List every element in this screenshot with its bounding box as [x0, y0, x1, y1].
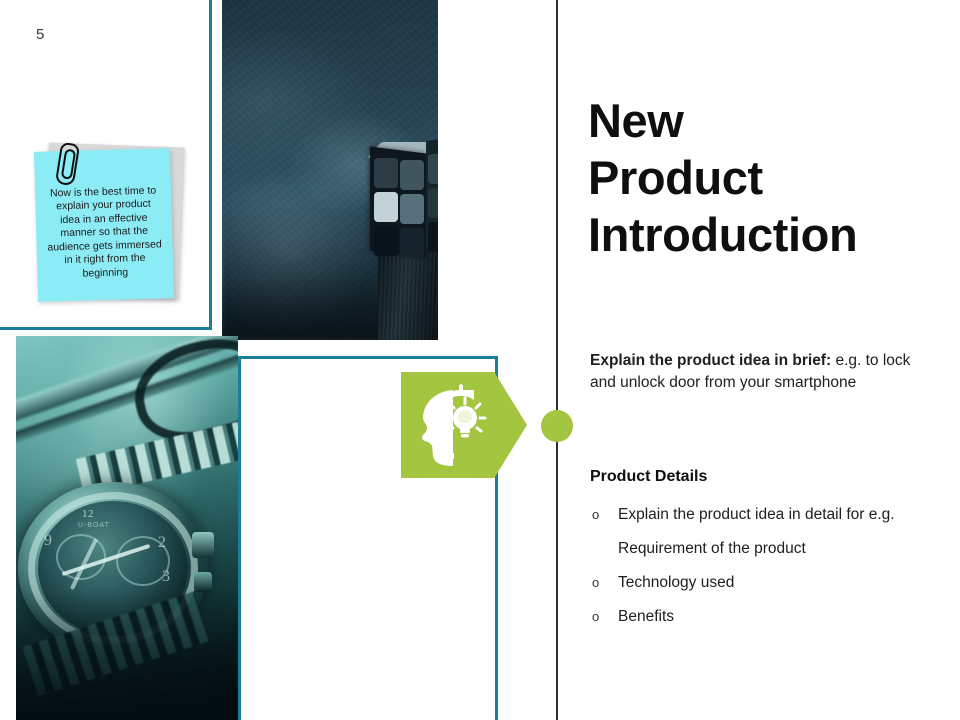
divider-dot: [541, 410, 573, 442]
cube-tile: [428, 222, 438, 252]
cube-tile: [400, 228, 424, 258]
rubiks-cube-photo: [222, 0, 438, 340]
cube-shape: [370, 140, 438, 258]
list-item-label: Benefits: [618, 608, 674, 625]
watch-crown: [192, 532, 214, 558]
title-line-2: Product: [588, 149, 948, 206]
cube-tile: [428, 188, 438, 218]
list-item-label: Technology used: [618, 574, 734, 591]
photo-vignette: [16, 589, 238, 720]
cube-tile: [400, 160, 424, 190]
product-details-list: oExplain the product idea in detail for …: [590, 498, 940, 634]
bullet-marker: o: [592, 566, 599, 600]
cube-tile: [428, 154, 438, 184]
cube-tile: [374, 192, 398, 222]
slide: 5 12 U: [0, 0, 960, 720]
head-with-lightbulb-icon: [417, 384, 501, 466]
list-item: oTechnology used: [590, 566, 940, 600]
cube-tile: [400, 194, 424, 224]
list-item-label: Explain the product idea in detail for e…: [618, 506, 895, 557]
lead-paragraph: Explain the product idea in brief: e.g. …: [590, 350, 920, 393]
bullet-marker: o: [592, 498, 599, 532]
cube-tile: [374, 158, 398, 188]
sticky-note-text: Now is the best time to explain your pro…: [35, 184, 174, 282]
vertical-divider: [556, 0, 558, 720]
list-item: oBenefits: [590, 600, 940, 634]
bullet-marker: o: [592, 600, 599, 634]
list-item: oExplain the product idea in detail for …: [590, 498, 940, 566]
stump-shape: [378, 248, 438, 340]
title-line-1: New: [588, 92, 948, 149]
page-title: New Product Introduction: [588, 92, 948, 263]
cube-tile: [374, 226, 398, 256]
title-line-3: Introduction: [588, 206, 948, 263]
idea-badge: [401, 372, 527, 478]
sticky-note-card: Now is the best time to explain your pro…: [34, 148, 174, 302]
product-details-heading: Product Details: [590, 468, 707, 486]
lead-bold-label: Explain the product idea in brief:: [590, 352, 831, 369]
wristwatch-photo: 12 U-BOAT 2 3 9: [16, 336, 238, 720]
sticky-note: Now is the best time to explain your pro…: [36, 143, 182, 303]
